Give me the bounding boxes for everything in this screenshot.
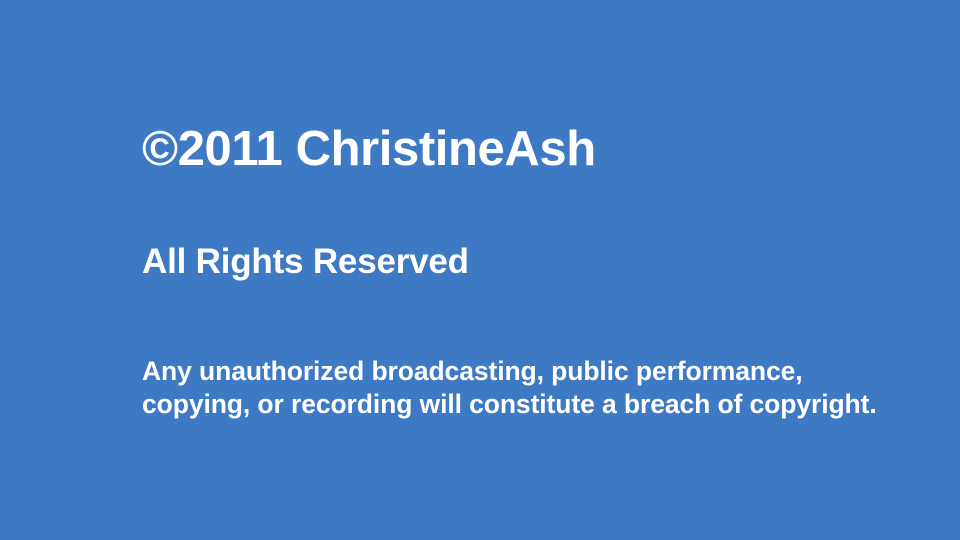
copyright-heading: ©2011 ChristineAsh xyxy=(142,124,596,175)
usage-notice-line-2: copying, or recording will constitute a … xyxy=(142,388,877,421)
slide-text-block: ©2011 ChristineAsh All Rights Reserved A… xyxy=(142,0,932,540)
copyright-slide: ©2011 ChristineAsh All Rights Reserved A… xyxy=(0,0,960,540)
usage-notice-line-1: Any unauthorized broadcasting, public pe… xyxy=(142,355,877,388)
usage-notice: Any unauthorized broadcasting, public pe… xyxy=(142,355,877,422)
all-rights-reserved-text: All Rights Reserved xyxy=(142,244,469,281)
